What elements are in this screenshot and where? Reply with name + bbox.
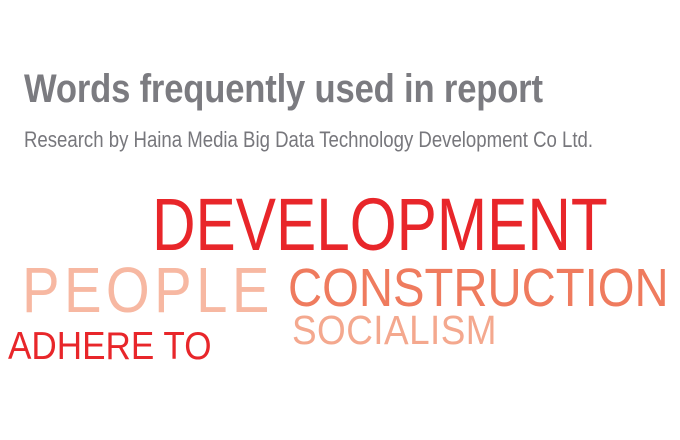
word-cloud-item-people: PEOPLE (22, 258, 274, 322)
infographic-canvas: Words frequently used in report Research… (0, 0, 680, 440)
word-cloud-item-adhere-to: ADHERE TO (8, 327, 212, 366)
word-cloud-item-socialism: SOCIALISM (292, 310, 497, 351)
word-cloud: DEVELOPMENT PEOPLE CONSTRUCTION SOCIALIS… (0, 0, 680, 440)
word-cloud-item-development: DEVELOPMENT (152, 188, 608, 262)
